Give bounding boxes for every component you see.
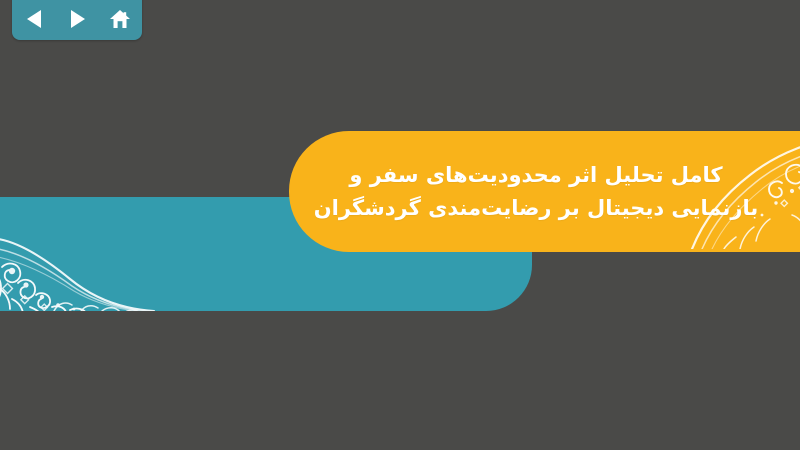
slide-canvas: کامل تحلیل اثر محدودیت‌های سفر و بازنمای… — [0, 0, 800, 450]
slide-navigation-bar — [12, 0, 142, 40]
triangle-left-icon — [25, 9, 43, 29]
triangle-right-icon — [68, 9, 86, 29]
next-slide-button[interactable] — [62, 5, 92, 33]
slide-title-text: کامل تحلیل اثر محدودیت‌های سفر و بازنمای… — [289, 159, 800, 224]
title-line-1: کامل تحلیل اثر محدودیت‌های سفر و — [289, 159, 783, 192]
previous-slide-button[interactable] — [19, 5, 49, 33]
home-slide-button[interactable] — [105, 5, 135, 33]
arabesque-ornament-icon — [0, 223, 156, 311]
title-line-2: بازنمایی دیجیتال بر رضایت‌مندی گردشگران — [289, 192, 783, 225]
home-icon — [109, 9, 131, 30]
slide-title-bar: کامل تحلیل اثر محدودیت‌های سفر و بازنمای… — [289, 131, 800, 252]
